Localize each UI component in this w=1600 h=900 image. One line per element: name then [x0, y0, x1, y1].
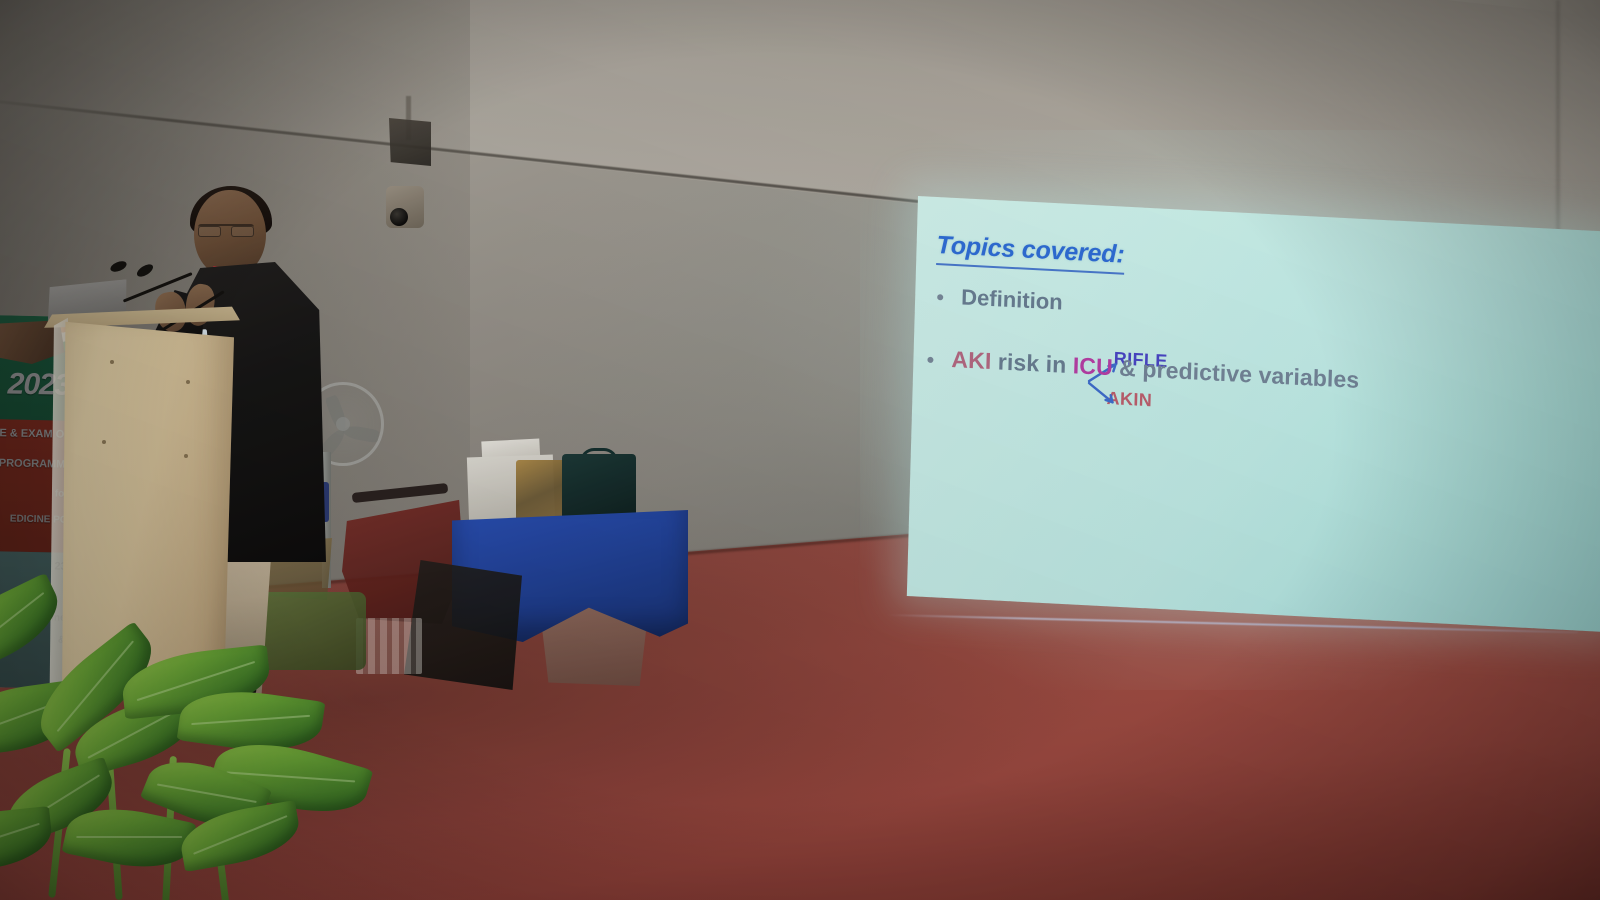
- bullet-definition-label: Definition: [961, 284, 1063, 314]
- conference-photo-scene: Topics covered: Definition RIFLE AKIN AK…: [0, 0, 1600, 900]
- slide-title: Topics covered:: [936, 231, 1125, 275]
- segment-risk-in: risk in: [991, 348, 1073, 378]
- segment-predictive-variables: & predictive variables: [1112, 354, 1359, 393]
- camera-lens-icon: [390, 208, 408, 226]
- glasses-icon: [198, 224, 254, 235]
- bullet-dot-icon: [927, 357, 933, 363]
- slide-bullet-definition: Definition RIFLE AKIN: [937, 283, 1063, 315]
- foreground-potted-plant: [0, 560, 420, 900]
- segment-icu: ICU: [1072, 352, 1113, 380]
- projected-slide: Topics covered: Definition RIFLE AKIN AK…: [907, 196, 1600, 632]
- wall-speaker-icon: [389, 118, 431, 166]
- bullet-dot-icon: [937, 294, 943, 300]
- segment-aki: AKI: [951, 346, 992, 374]
